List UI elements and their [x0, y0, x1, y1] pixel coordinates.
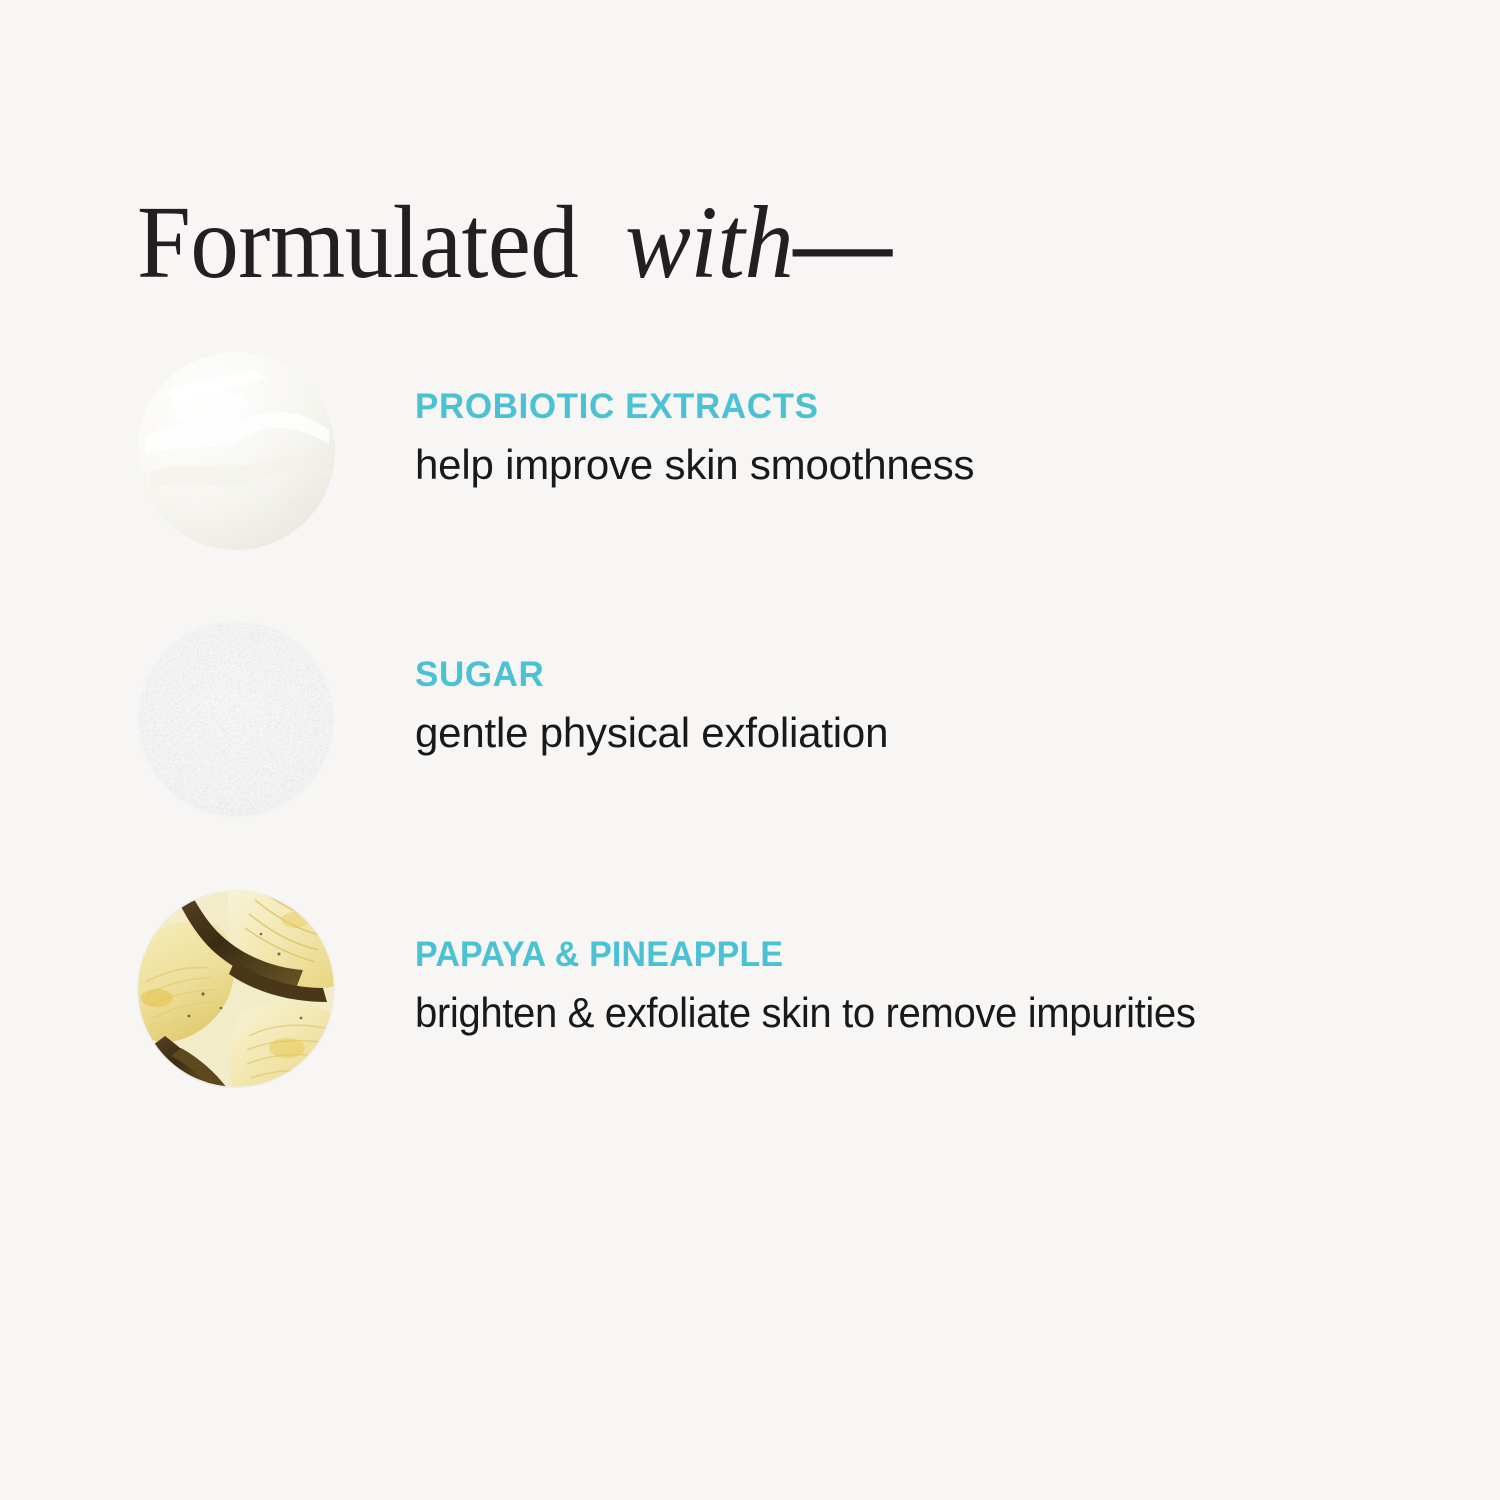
ingredient-row: PAPAYA & PINEAPPLE brighten & exfoliate … [137, 890, 1397, 1088]
ingredient-description: help improve skin smoothness [415, 441, 1395, 488]
page-title-italic-word: with [625, 185, 793, 300]
ingredient-row: SUGAR gentle physical exfoliation [137, 620, 1397, 818]
page-title-roman: Formulated [137, 188, 578, 297]
ingredient-name: PAPAYA & PINEAPPLE [415, 936, 1366, 975]
ingredient-description: brighten & exfoliate skin to remove impu… [415, 989, 1351, 1036]
ingredient-text-block: PROBIOTIC EXTRACTS help improve skin smo… [415, 388, 1395, 488]
ingredient-name: PROBIOTIC EXTRACTS [415, 388, 1395, 427]
sugar-crystals-icon [137, 620, 335, 818]
ingredient-name: SUGAR [415, 656, 1395, 695]
formulated-with-panel: Formulatedwith— [0, 0, 1500, 1500]
page-title-italic: with— [625, 188, 890, 297]
page-title: Formulatedwith— [137, 188, 905, 297]
page-title-dash: — [794, 185, 891, 300]
papaya-pineapple-icon [137, 890, 335, 1088]
ingredient-description: gentle physical exfoliation [415, 709, 1395, 756]
ingredient-text-block: PAPAYA & PINEAPPLE brighten & exfoliate … [415, 936, 1395, 1036]
ingredient-row: PROBIOTIC EXTRACTS help improve skin smo… [137, 352, 1397, 550]
ingredient-text-block: SUGAR gentle physical exfoliation [415, 656, 1395, 756]
cream-dollop-icon [137, 352, 335, 550]
